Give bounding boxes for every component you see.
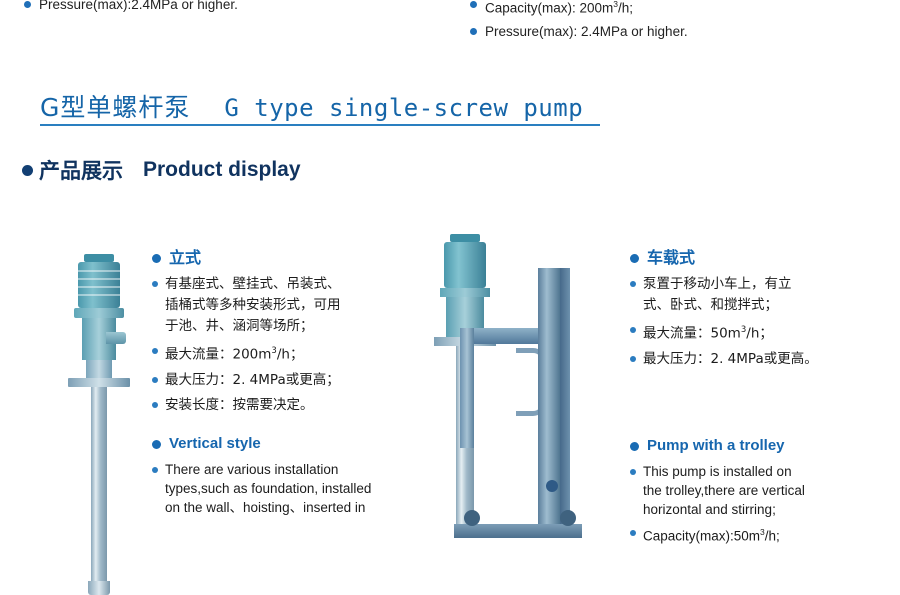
bullet-dot-icon [470, 28, 477, 35]
pump-neck-shape [86, 360, 112, 378]
list-item: 安装长度：按需要决定。 [152, 395, 402, 416]
bullet-dot-icon [630, 281, 636, 287]
list-item: 最大压力：2. 4MPa或更高； [152, 370, 402, 391]
bullet-dot-icon [630, 356, 636, 362]
motor-body-shape [78, 262, 120, 308]
bullet-dot-icon [152, 348, 158, 354]
bullet-dot-icon [152, 440, 161, 449]
motor-body-shape [444, 242, 486, 288]
bullet-dot-icon [470, 1, 477, 8]
bullet-dot-icon [22, 165, 33, 176]
title-underline-divider [40, 124, 600, 126]
item-text: 有基座式、壁挂式、吊装式、 插桶式等多种安装形式，可用 于池、井、涵洞等场所； [165, 274, 341, 337]
list-item: Pressure(max):2.4MPa or higher. [24, 0, 444, 15]
list-item: 最大流量：200m3/h； [152, 341, 402, 366]
trolley-arm-shape [460, 328, 474, 448]
bullet-dot-icon [152, 377, 158, 383]
vertical-style-heading-cn: 立式 [152, 248, 402, 268]
bullet-dot-icon [630, 469, 636, 475]
top-spec-right-column: Capacity(max): 200m3/h; Pressure(max): 2… [470, 0, 890, 44]
item-text: 安装长度：按需要决定。 [165, 395, 314, 416]
bullet-dot-icon [24, 1, 31, 8]
heading-text: Vertical style [169, 434, 261, 454]
trolley-style-text-column: 车载式 泵置于移动小车上，有立 式、卧式、和搅拌式； 最大流量：50m3/h； … [630, 248, 890, 549]
list-item: 泵置于移动小车上，有立 式、卧式、和搅拌式； [630, 274, 890, 316]
trolley-style-heading-en: Pump with a trolley [630, 436, 890, 456]
item-text: This pump is installed on the trolley,th… [643, 462, 805, 519]
trolley-style-heading-cn: 车载式 [630, 248, 890, 268]
page-root: Pressure(max):2.4MPa or higher. Capacity… [0, 0, 900, 536]
list-item: This pump is installed on the trolley,th… [630, 462, 890, 519]
bullet-dot-icon [630, 327, 636, 333]
bullet-dot-icon [152, 467, 158, 473]
list-item: 有基座式、壁挂式、吊装式、 插桶式等多种安装形式，可用 于池、井、涵洞等场所； [152, 274, 402, 337]
section-title: G型单螺杆泵 G type single-screw pump [40, 88, 583, 124]
trolley-knob-shape [546, 480, 558, 492]
motor-flange-shape [440, 288, 490, 297]
bullet-dot-icon [152, 254, 161, 263]
list-item: Capacity(max):50m3/h; [630, 523, 890, 546]
product-display-heading-cn: 产品展示 [39, 155, 123, 185]
list-item: There are various installation types,suc… [152, 460, 402, 517]
bullet-dot-icon [152, 281, 158, 287]
trolley-mast-side-shape [560, 268, 570, 536]
product-display-heading: 产品展示 Product display [22, 155, 301, 185]
bullet-dot-icon [630, 530, 636, 536]
list-item: Pressure(max): 2.4MPa or higher. [470, 21, 890, 42]
mounting-plate-shape [68, 378, 130, 387]
item-text: 最大压力：2. 4MPa或更高。 [643, 349, 818, 370]
item-text: There are various installation types,suc… [165, 460, 371, 517]
section-title-cn: G型单螺杆泵 [40, 88, 190, 124]
bullet-dot-icon [630, 442, 639, 451]
heading-text: Pump with a trolley [647, 436, 785, 456]
list-item: 最大流量：50m3/h； [630, 320, 890, 345]
pump-tube-end-shape [88, 581, 110, 595]
motor-flange-shape [74, 308, 124, 318]
list-item: 最大压力：2. 4MPa或更高。 [630, 349, 890, 370]
list-item: Capacity(max): 200m3/h; [470, 0, 890, 19]
spec-text: Pressure(max): 2.4MPa or higher. [485, 21, 688, 42]
motor-fan-cover-shape [84, 254, 114, 262]
item-text: 最大流量：50m3/h； [643, 320, 773, 345]
pump-shaft-tube-shape [91, 387, 107, 587]
trolley-wheel-shape [464, 510, 480, 526]
product-display-heading-en: Product display [143, 158, 301, 182]
item-text: 最大压力：2. 4MPa或更高； [165, 370, 340, 391]
item-text: 最大流量：200m3/h； [165, 341, 303, 366]
top-spec-band: Pressure(max):2.4MPa or higher. Capacity… [0, 0, 900, 50]
spec-text: Pressure(max):2.4MPa or higher. [39, 0, 238, 15]
pump-outlet-shape [106, 332, 126, 344]
item-text: 泵置于移动小车上，有立 式、卧式、和搅拌式； [643, 274, 792, 316]
motor-fan-cover-shape [450, 234, 480, 242]
top-spec-left-column: Pressure(max):2.4MPa or higher. [24, 0, 444, 17]
trolley-wheel-shape [560, 510, 576, 526]
trolley-mast-shape [538, 268, 560, 536]
vertical-pump-image [60, 236, 150, 536]
bullet-dot-icon [630, 254, 639, 263]
trolley-pump-image [420, 228, 630, 536]
item-text: Capacity(max):50m3/h; [643, 523, 780, 546]
heading-text: 车载式 [647, 248, 695, 268]
section-title-en: G type single-screw pump [224, 94, 583, 122]
vertical-style-heading-en: Vertical style [152, 434, 402, 454]
heading-text: 立式 [169, 248, 201, 268]
spec-text: Capacity(max): 200m3/h; [485, 0, 633, 19]
bullet-dot-icon [152, 402, 158, 408]
vertical-style-text-column: 立式 有基座式、壁挂式、吊装式、 插桶式等多种安装形式，可用 于池、井、涵洞等场… [152, 248, 402, 521]
